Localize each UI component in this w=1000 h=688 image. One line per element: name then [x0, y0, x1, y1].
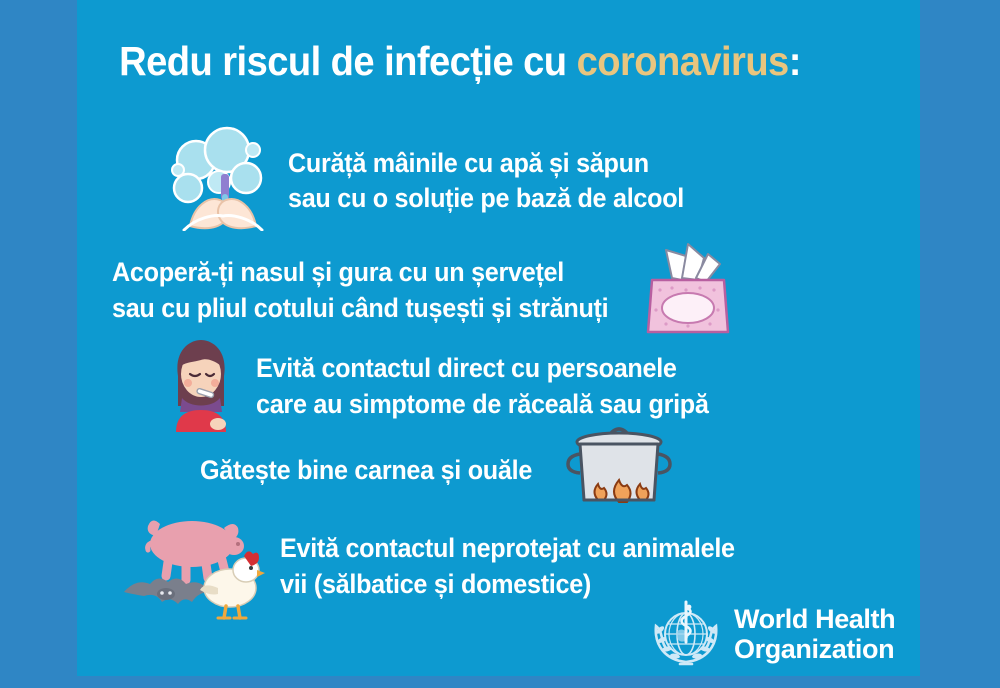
- page-title: Redu riscul de infecție cu coronavirus:: [32, 38, 888, 85]
- tip-2-line-1: Acoperă-ți nasul și gura cu un șervețel: [112, 255, 608, 290]
- tip-1-text: Curăță mâinile cu apă și săpun sau cu o …: [288, 146, 684, 216]
- who-wordmark: World Health Organization: [734, 605, 895, 664]
- cooking-pot-icon: [564, 424, 674, 517]
- tip-5-line-1: Evită contactul neprotejat cu animalele: [280, 531, 735, 566]
- tip-3-line-1: Evită contactul direct cu persoanele: [256, 351, 709, 386]
- who-logo: World Health Organization: [650, 596, 895, 673]
- tip-4-line-1: Gătește bine carnea și ouăle: [200, 453, 532, 488]
- infographic-poster: Redu riscul de infecție cu coronavirus:: [0, 0, 1000, 688]
- tip-5-text: Evită contactul neprotejat cu animalele …: [280, 531, 735, 601]
- animals-icon: [118, 508, 270, 625]
- tip-row-2: Acoperă-ți nasul și gura cu un șervețel …: [112, 238, 734, 343]
- tip-3-text: Evită contactul direct cu persoanele car…: [256, 351, 709, 421]
- tip-4-text: Gătește bine carnea și ouăle: [200, 453, 532, 488]
- tip-1-line-1: Curăță mâinile cu apă și săpun: [288, 146, 684, 181]
- title-suffix: :: [789, 38, 801, 84]
- tip-row-3: Evită contactul direct cu persoanele car…: [160, 336, 732, 437]
- who-line-1: World Health: [734, 604, 895, 634]
- who-emblem-icon: [650, 596, 722, 673]
- title-highlight: coronavirus: [577, 38, 789, 84]
- tip-row-1: Curăță mâinile cu apă și săpun sau cu o …: [160, 126, 705, 236]
- tip-2-line-2: sau cu pliul cotului când tușești și str…: [112, 291, 608, 326]
- tissue-box-icon: [642, 238, 734, 343]
- handwashing-icon: [160, 126, 272, 236]
- border-left: [0, 0, 77, 688]
- border-bottom: [0, 676, 1000, 688]
- tip-row-4: Gătește bine carnea și ouăle: [200, 424, 674, 517]
- tip-1-line-2: sau cu o soluție pe bază de alcool: [288, 181, 684, 216]
- border-right: [920, 0, 1000, 688]
- who-line-2: Organization: [734, 635, 895, 665]
- title-prefix: Redu riscul de infecție cu: [119, 38, 576, 84]
- sick-person-icon: [160, 336, 242, 437]
- tip-2-text: Acoperă-ți nasul și gura cu un șervețel …: [112, 255, 608, 325]
- tip-3-line-2: care au simptome de răceală sau gripă: [256, 387, 709, 422]
